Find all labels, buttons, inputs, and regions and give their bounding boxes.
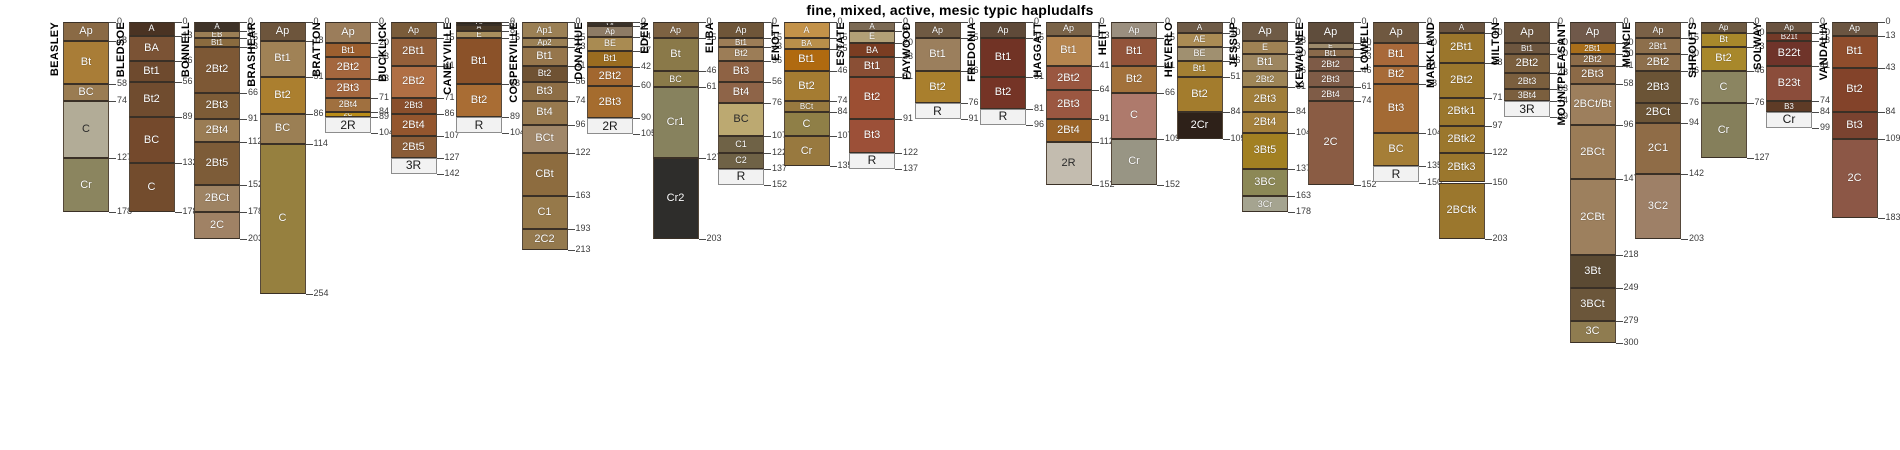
depth-tick: [568, 196, 575, 197]
soil-horizon: C: [63, 101, 109, 158]
soil-horizon: Ap: [1504, 22, 1550, 43]
soil-horizon: R: [915, 103, 961, 119]
depth-tick: [1354, 71, 1361, 72]
depth-tick: [1681, 123, 1688, 124]
soil-horizon: Ap: [980, 22, 1026, 38]
horizon-label: R: [999, 112, 1008, 121]
soil-horizon: C: [784, 112, 830, 137]
soil-horizon: 2Btk1: [1439, 98, 1485, 126]
profile-name-label: MILTON: [1491, 22, 1502, 65]
depth-tick: [1616, 321, 1623, 322]
horizon-label: R: [1392, 170, 1401, 179]
horizon-label: 2Bt2: [1057, 74, 1080, 83]
horizon-label: 2Bt1: [402, 47, 425, 56]
depth-tick-label: 46: [707, 66, 717, 75]
horizon-label: 2BCt: [205, 194, 229, 203]
soil-horizon: Bt2: [1832, 68, 1878, 112]
horizon-label: C: [279, 214, 287, 223]
depth-tick: [1354, 101, 1361, 102]
profile-name-label: KEWAUNEE: [1295, 22, 1306, 88]
soil-horizon: Bt1: [980, 38, 1026, 77]
soil-horizon: Cr: [63, 158, 109, 213]
profile-column: OiAEBt1Bt2R: [456, 22, 502, 133]
soil-horizon: Bt1: [522, 47, 568, 66]
depth-tick: [1878, 218, 1885, 219]
horizon-label: BC: [144, 136, 159, 145]
depth-tick-label: 81: [1034, 104, 1044, 113]
horizon-label: 3Cr: [1258, 200, 1273, 209]
horizon-label: 2R: [340, 121, 355, 130]
soil-horizon: 2Bt4: [391, 114, 437, 136]
profile-column: AAEBEBt1Bt22Cr: [1177, 22, 1223, 139]
soil-horizon: Bt: [63, 41, 109, 84]
horizon-label: 2Bt3: [1057, 100, 1080, 109]
soil-horizon: Ap: [653, 22, 699, 38]
soil-horizon: 2Bt2: [587, 67, 633, 86]
horizon-label: 2C1: [1648, 144, 1668, 153]
soil-horizon: Bt2: [456, 84, 502, 117]
horizon-label: Ap: [1128, 26, 1139, 35]
horizon-label: B22t: [1778, 49, 1801, 58]
horizon-label: Bt3: [864, 131, 881, 140]
horizon-label: 2Bt5: [402, 143, 425, 152]
soil-horizon: Bt2: [1177, 77, 1223, 112]
depth-tick: [1878, 22, 1885, 23]
soil-horizon: 2Bt3: [391, 98, 437, 114]
profile-name-label: HAGGATT: [1033, 22, 1044, 78]
horizon-label: Bt: [670, 50, 680, 59]
profile-name-label: MOUNTPLEASANT: [1557, 22, 1568, 126]
depth-tick: [1354, 87, 1361, 88]
horizon-label: 2BCt: [1646, 108, 1670, 117]
soil-horizon: 2Bt3: [1308, 71, 1354, 87]
depth-tick-label: 76: [772, 98, 782, 107]
depth-tick-label: 84: [1296, 107, 1306, 116]
horizon-label: 2C: [1847, 174, 1861, 183]
horizon-label: Bt2: [1388, 70, 1405, 79]
horizon-label: 3BC: [1254, 178, 1275, 187]
soil-horizon: Ap: [391, 22, 437, 38]
soil-horizon: B22t: [1766, 41, 1812, 66]
profile-column: ApBt1Bt2Bt32C: [1832, 22, 1878, 218]
soil-horizon: Bt3: [522, 82, 568, 101]
horizon-label: B23t: [1778, 79, 1801, 88]
horizon-label: 2Bt3: [1254, 95, 1277, 104]
profile-column: OiApBEBt12Bt22Bt32R: [587, 22, 633, 134]
soil-horizon: 2Bt3: [1635, 71, 1681, 103]
horizon-label: Bt2: [1191, 90, 1208, 99]
soil-horizon: Ap: [1635, 22, 1681, 38]
soil-horizon: Bt1: [456, 38, 502, 84]
depth-tick: [109, 84, 116, 85]
soil-horizon: 2BCtk: [1439, 183, 1485, 240]
horizon-label: Ap: [1324, 28, 1337, 37]
depth-tick: [1616, 343, 1623, 344]
soil-horizon: Cr: [1766, 112, 1812, 128]
horizon-label: C: [1130, 111, 1138, 120]
profile-name-label: BRASHEAR: [247, 22, 258, 87]
depth-tick-label: 84: [838, 107, 848, 116]
depth-tick-label: 203: [1493, 234, 1508, 243]
depth-tick: [1485, 183, 1492, 184]
soil-horizon: A: [129, 22, 175, 36]
depth-tick: [568, 229, 575, 230]
depth-tick-label: 152: [772, 180, 787, 189]
soil-horizon: C: [1111, 93, 1157, 139]
horizon-label: R: [933, 107, 942, 116]
profile-column: ApBtBCCCr: [63, 22, 109, 212]
profile-name-label: BRATTON: [312, 22, 323, 77]
profile-column: ApB21tB22tB23tB3Cr: [1766, 22, 1812, 128]
depth-tick-label: 56: [772, 77, 782, 86]
horizon-label: CBt: [535, 170, 553, 179]
horizon-label: Bt: [81, 58, 91, 67]
horizon-label: Ap: [1258, 27, 1271, 36]
horizon-label: 3BCt: [1580, 300, 1604, 309]
depth-tick: [306, 144, 313, 145]
soil-horizon: BC: [1373, 133, 1419, 166]
soil-horizon: 2Bt1: [1570, 43, 1616, 54]
profile-name-label: SOLWAY: [1753, 22, 1764, 70]
horizon-label: Bt2: [734, 49, 748, 58]
soil-horizon: Cr: [1111, 139, 1157, 185]
horizon-label: Bt3: [536, 87, 553, 96]
soil-horizon: Ap: [718, 22, 764, 38]
horizon-label: Bt1: [864, 62, 881, 71]
horizon-label: Ap: [997, 26, 1008, 35]
soil-horizon: 2Bt3: [587, 86, 633, 118]
profile-name-label: FREDONIA: [967, 22, 978, 82]
depth-tick: [371, 98, 378, 99]
soil-horizon: Bt2: [260, 77, 306, 114]
depth-tick-label: 178: [1296, 207, 1311, 216]
depth-tick-label: 183: [1886, 213, 1900, 222]
soil-horizon: Bt1: [325, 43, 371, 57]
depth-tick: [1616, 255, 1623, 256]
depth-tick: [1485, 153, 1492, 154]
depth-tick: [1092, 90, 1099, 91]
soil-horizon: BA: [129, 36, 175, 61]
soil-horizon: BC: [129, 117, 175, 163]
horizon-label: 2Bt4: [402, 121, 425, 130]
horizon-label: A: [214, 22, 219, 31]
horizon-label: 2BCt/Bt: [1574, 100, 1612, 109]
depth-tick: [502, 133, 509, 134]
profile-column: Ap2Bt12Bt22Bt32BCt2C13C2: [1635, 22, 1681, 239]
soil-horizon: 2Bt4: [1308, 87, 1354, 101]
depth-tick-label: 71: [1493, 93, 1503, 102]
soil-horizon: Ap: [325, 22, 371, 43]
soil-horizon: B21t: [1766, 33, 1812, 42]
horizon-label: A: [148, 24, 154, 33]
depth-tick-label: 122: [903, 148, 918, 157]
depth-tick: [240, 185, 247, 186]
horizon-label: B3: [1784, 102, 1794, 111]
profile-column: A2Bt12Bt22Btk12Btk22Btk32BCtk: [1439, 22, 1485, 239]
soil-horizon: Ap: [915, 22, 961, 38]
soil-horizon: C: [129, 163, 175, 212]
soil-horizon: 2BCt: [1635, 103, 1681, 122]
soil-horizon: 3R: [1504, 101, 1550, 117]
horizon-label: Bt1: [1388, 50, 1405, 59]
horizon-label: 2C: [1323, 138, 1337, 147]
soil-horizon: Bt1: [1242, 54, 1288, 71]
depth-tick: [1026, 109, 1033, 110]
soil-horizon: Ap: [1242, 22, 1288, 41]
depth-tick: [1354, 185, 1361, 186]
horizon-label: 2Bt2: [206, 65, 229, 74]
depth-tick-label: 163: [1296, 191, 1311, 200]
horizon-label: BA: [866, 46, 878, 55]
profile-name-label: CANEYVILLE: [443, 22, 454, 95]
depth-tick: [1485, 98, 1492, 99]
depth-tick-label: 96: [1034, 120, 1044, 129]
depth-tick: [1223, 139, 1230, 140]
horizon-label: Ap: [276, 27, 289, 36]
depth-tick: [1419, 183, 1426, 184]
horizon-label: C1: [735, 140, 747, 149]
soil-horizon: 2CBt: [1570, 179, 1616, 255]
profile-column: AEBBt12Bt22Bt32Bt42Bt52BCt2C: [194, 22, 240, 239]
depth-tick-label: 43: [1886, 63, 1896, 72]
soil-horizon: C: [1701, 71, 1747, 103]
soil-horizon: Bt1: [1177, 61, 1223, 77]
horizon-label: 2Bt2: [402, 77, 425, 86]
depth-tick-label: 249: [1624, 283, 1639, 292]
horizon-label: Bt1: [603, 54, 617, 63]
soil-horizon: Ap: [1701, 22, 1747, 33]
depth-tick: [1878, 68, 1885, 69]
depth-tick-label: 109: [1886, 134, 1900, 143]
soil-horizon: Bt1: [1373, 43, 1419, 65]
depth-tick: [1288, 196, 1295, 197]
soil-horizon: E: [456, 31, 502, 38]
depth-tick: [1681, 103, 1688, 104]
depth-tick: [437, 114, 444, 115]
horizon-label: C: [82, 125, 90, 134]
depth-tick-label: 61: [707, 82, 717, 91]
depth-tick: [1157, 185, 1164, 186]
depth-tick: [175, 117, 182, 118]
soil-horizon: 3C: [1570, 321, 1616, 343]
depth-tick-label: 91: [248, 114, 258, 123]
soil-horizon: A: [849, 22, 895, 31]
depth-tick: [306, 114, 313, 115]
depth-tick-label: 203: [707, 234, 722, 243]
soil-horizon: Ap1: [522, 22, 568, 38]
soil-horizon: 2R: [1046, 142, 1092, 185]
depth-tick-label: 90: [641, 113, 651, 122]
depth-tick-label: 74: [117, 96, 127, 105]
soil-horizon: 2Bt2: [1046, 66, 1092, 91]
soil-horizon: Bt1: [1046, 36, 1092, 66]
horizon-label: C: [148, 183, 156, 192]
horizon-label: 2Bt2: [1647, 58, 1670, 67]
soil-horizon: 2Bt4: [1242, 112, 1288, 133]
depth-tick: [830, 101, 837, 102]
profile-column: ABABt1Bt2BCC: [129, 22, 175, 212]
soil-horizon: Bt2: [129, 82, 175, 117]
soil-horizon: Cr1: [653, 87, 699, 158]
horizon-label: 3R: [1519, 105, 1534, 114]
depth-tick: [1092, 66, 1099, 67]
horizon-label: BC: [669, 75, 682, 84]
horizon-label: A: [803, 26, 809, 35]
depth-tick-label: 46: [838, 66, 848, 75]
profile-column: ApEBt12Bt22Bt32Bt42C: [1308, 22, 1354, 185]
soil-horizon: R: [718, 169, 764, 185]
horizon-label: Bt3: [733, 67, 750, 76]
depth-tick-label: 61: [1362, 82, 1372, 91]
depth-tick: [1747, 158, 1754, 159]
depth-tick-label: 0: [1886, 17, 1891, 26]
soil-horizon: 2Bt5: [194, 142, 240, 185]
horizon-label: Cr: [1128, 157, 1140, 166]
horizon-label: Bt: [1719, 35, 1728, 44]
depth-tick: [1812, 112, 1819, 113]
soil-horizon: 2Bt3: [1504, 73, 1550, 89]
horizon-label: Bt2: [1126, 75, 1143, 84]
horizon-label: Ap: [670, 26, 681, 35]
horizon-label: BC: [733, 115, 748, 124]
depth-tick: [437, 174, 444, 175]
soil-horizon: Bt1: [260, 41, 306, 76]
horizon-label: 2Bt1: [1584, 44, 1600, 53]
profile-plot-area: BEASLEYApBtBCCCr0185874127178BLEDSOEABAB…: [0, 22, 1900, 450]
soil-horizon: A: [784, 22, 830, 38]
depth-tick: [699, 71, 706, 72]
profile-column: Ap2Bt12Bt22Bt32Bt42Bt53R: [391, 22, 437, 174]
soil-horizon: Bt2: [784, 71, 830, 101]
horizon-label: Bt3: [1846, 121, 1863, 130]
depth-tick: [764, 136, 771, 137]
depth-tick-label: 74: [576, 96, 586, 105]
depth-tick-label: 142: [445, 169, 460, 178]
depth-tick: [1747, 71, 1754, 72]
horizon-label: 3C: [1585, 327, 1599, 336]
horizon-label: 2Bt4: [1254, 118, 1277, 127]
soil-horizon: 2C: [194, 212, 240, 239]
depth-tick: [1878, 36, 1885, 37]
soil-horizon: 2Btk3: [1439, 153, 1485, 183]
soil-horizon: 2Bt2: [1242, 71, 1288, 87]
depth-tick: [764, 82, 771, 83]
depth-tick: [1157, 93, 1164, 94]
soil-horizon: 2Bt3: [1242, 87, 1288, 112]
profile-name-label: ENOTT: [771, 22, 782, 61]
horizon-label: 2CBt: [1580, 213, 1604, 222]
depth-tick-label: 84: [1820, 107, 1830, 116]
depth-tick: [1223, 77, 1230, 78]
depth-tick: [764, 153, 771, 154]
profile-column: ApBt12Bt22Bt32Bt42R: [1046, 22, 1092, 185]
profile-column: ApBt12Bt22Bt32Bt42C2R: [325, 22, 371, 133]
depth-tick: [1092, 185, 1099, 186]
soil-horizon: Bt2: [849, 77, 895, 120]
soil-horizon: Bt: [1701, 33, 1747, 47]
horizon-label: 2Bt1: [1450, 43, 1473, 52]
soil-horizon: A: [194, 22, 240, 31]
horizon-label: Bt1: [995, 53, 1012, 62]
soil-horizon: CBt: [522, 153, 568, 197]
soil-horizon: Ap: [587, 26, 633, 37]
soil-profile-figure: fine, mixed, active, mesic typic hapluda…: [0, 0, 1900, 450]
depth-tick-label: 94: [1689, 118, 1699, 127]
soil-horizon: 3C2: [1635, 174, 1681, 239]
depth-tick-label: 203: [1689, 234, 1704, 243]
soil-horizon: AE: [1177, 33, 1223, 47]
soil-horizon: Ap: [63, 22, 109, 41]
depth-tick: [1157, 139, 1164, 140]
soil-horizon: 3BCt: [1570, 288, 1616, 320]
horizon-label: Ap: [605, 27, 615, 36]
soil-horizon: 2Bt5: [391, 136, 437, 157]
depth-tick: [1616, 125, 1623, 126]
depth-tick-label: 13: [1886, 31, 1896, 40]
soil-horizon: Bt1: [849, 57, 895, 76]
soil-horizon: 3Bt4: [1504, 89, 1550, 101]
soil-horizon: Ap: [1046, 22, 1092, 36]
depth-tick-label: 42: [641, 62, 651, 71]
soil-horizon: Bt3: [1373, 84, 1419, 133]
horizon-label: 2Bt3: [1518, 77, 1537, 86]
horizon-label: BA: [144, 44, 159, 53]
soil-horizon: BE: [1177, 47, 1223, 61]
horizon-label: BC: [78, 88, 93, 97]
depth-tick: [961, 103, 968, 104]
soil-horizon: 2Bt2: [1439, 63, 1485, 98]
soil-horizon: Bt2: [1111, 66, 1157, 93]
soil-horizon: 2Bt4: [325, 98, 371, 112]
soil-horizon: Bt1: [1111, 38, 1157, 66]
soil-horizon: C2: [718, 153, 764, 169]
depth-tick-label: 97: [1493, 121, 1503, 130]
soil-horizon: 2Bt1: [1439, 33, 1485, 63]
depth-tick: [175, 82, 182, 83]
depth-tick: [1092, 119, 1099, 120]
horizon-label: 2Bt2: [1583, 55, 1602, 64]
horizon-label: 2Bt4: [339, 100, 358, 109]
horizon-label: Bt2: [1715, 54, 1732, 63]
depth-tick-label: 279: [1624, 316, 1639, 325]
soil-horizon: BA: [849, 43, 895, 57]
depth-tick-label: 127: [445, 153, 460, 162]
soil-horizon: 2Bt2: [1570, 54, 1616, 66]
depth-tick-label: 99: [1820, 123, 1830, 132]
soil-horizon: Bt1: [194, 38, 240, 47]
depth-tick-label: 58: [1624, 79, 1634, 88]
depth-tick-label: 41: [1100, 61, 1110, 70]
depth-tick-label: 114: [314, 139, 328, 148]
depth-tick-label: 137: [903, 164, 918, 173]
horizon-label: Ap: [408, 26, 419, 35]
soil-horizon: 3BC: [1242, 169, 1288, 197]
profile-name-label: BLEDSOE: [116, 22, 127, 77]
depth-tick: [568, 250, 575, 251]
horizon-label: Cr: [1783, 115, 1796, 124]
soil-horizon: Ap: [1308, 22, 1354, 43]
horizon-label: Bt2: [864, 93, 881, 102]
horizon-label: 2Bt2: [599, 72, 622, 81]
depth-tick: [1878, 139, 1885, 140]
soil-horizon: C1: [718, 136, 764, 152]
horizon-label: 2BCt: [1580, 148, 1604, 157]
soil-horizon: 2BCt: [1570, 125, 1616, 180]
horizon-label: 3Bt5: [1254, 146, 1277, 155]
soil-horizon: Bt3: [849, 119, 895, 152]
soil-horizon: Bt1: [587, 51, 633, 67]
soil-horizon: Bt2: [718, 47, 764, 61]
